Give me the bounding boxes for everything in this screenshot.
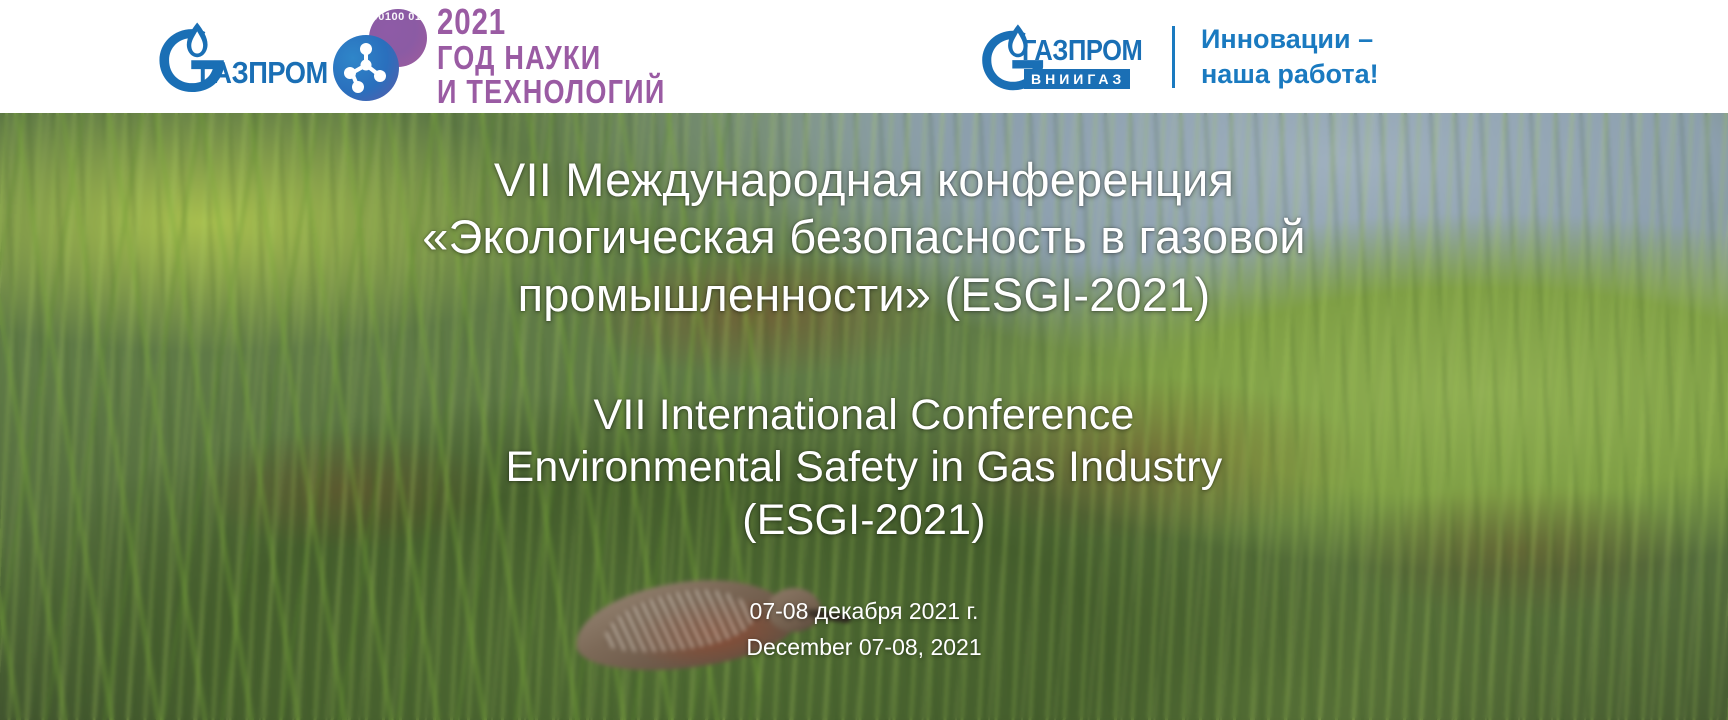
title-en-line-1: VII International Conference bbox=[505, 389, 1222, 441]
conference-title-en: VII International Conference Environment… bbox=[505, 389, 1222, 546]
year-of-science-wordmark: 2021 ГОД НАУКИ И ТЕХНОЛОГИЙ bbox=[437, 4, 666, 108]
conference-date-en: December 07-08, 2021 bbox=[746, 630, 981, 666]
science-year: 2021 bbox=[437, 4, 666, 41]
year-of-science-emblem[interactable]: 100100 0100110 00100 bbox=[331, 7, 427, 107]
molecule-node-icon bbox=[333, 35, 399, 101]
site-header: ГАЗПРОМ 100100 0100110 00100 bbox=[0, 0, 1728, 113]
header-left-logos: ГАЗПРОМ 100100 0100110 00100 bbox=[155, 0, 716, 113]
header-right-logos: ГАЗПРОМ ВНИИГАЗ Инновации – наша работа! bbox=[978, 0, 1379, 113]
title-en-line-3: (ESGI-2021) bbox=[505, 494, 1222, 546]
slogan-line-1: Инновации – bbox=[1201, 22, 1379, 57]
conference-dates: 07-08 декабря 2021 г. December 07-08, 20… bbox=[746, 594, 981, 665]
title-ru-line-2: «Экологическая безопасность в газовой bbox=[422, 208, 1306, 265]
gazprom-wordmark: ГАЗПРОМ bbox=[199, 55, 328, 91]
title-ru-line-1: VII Международная конференция bbox=[422, 151, 1306, 208]
company-slogan: Инновации – наша работа! bbox=[1201, 22, 1379, 91]
slogan-line-2: наша работа! bbox=[1201, 57, 1379, 92]
logo-divider bbox=[1172, 26, 1175, 88]
conference-title-ru: VII Международная конференция «Экологиче… bbox=[422, 151, 1306, 323]
binary-code-text: 100100 0100110 00100 bbox=[369, 11, 427, 23]
title-en-line-2: Environmental Safety in Gas Industry bbox=[505, 441, 1222, 493]
conference-date-ru: 07-08 декабря 2021 г. bbox=[746, 594, 981, 630]
gazprom-logo[interactable]: ГАЗПРОМ bbox=[155, 11, 327, 103]
hero-content: VII Международная конференция «Экологиче… bbox=[0, 113, 1728, 720]
gazprom-wordmark: ГАЗПРОМ bbox=[1022, 35, 1142, 68]
vniigaz-subbrand: ВНИИГАЗ bbox=[1024, 69, 1130, 89]
science-line-1: ГОД НАУКИ bbox=[437, 41, 666, 75]
hero-banner: VII Международная конференция «Экологиче… bbox=[0, 113, 1728, 720]
gazprom-vniigaz-logo[interactable]: ГАЗПРОМ ВНИИГАЗ bbox=[978, 11, 1158, 103]
science-line-2: И ТЕХНОЛОГИЙ bbox=[437, 75, 666, 109]
title-ru-line-3: промышленности» (ESGI-2021) bbox=[422, 266, 1306, 323]
